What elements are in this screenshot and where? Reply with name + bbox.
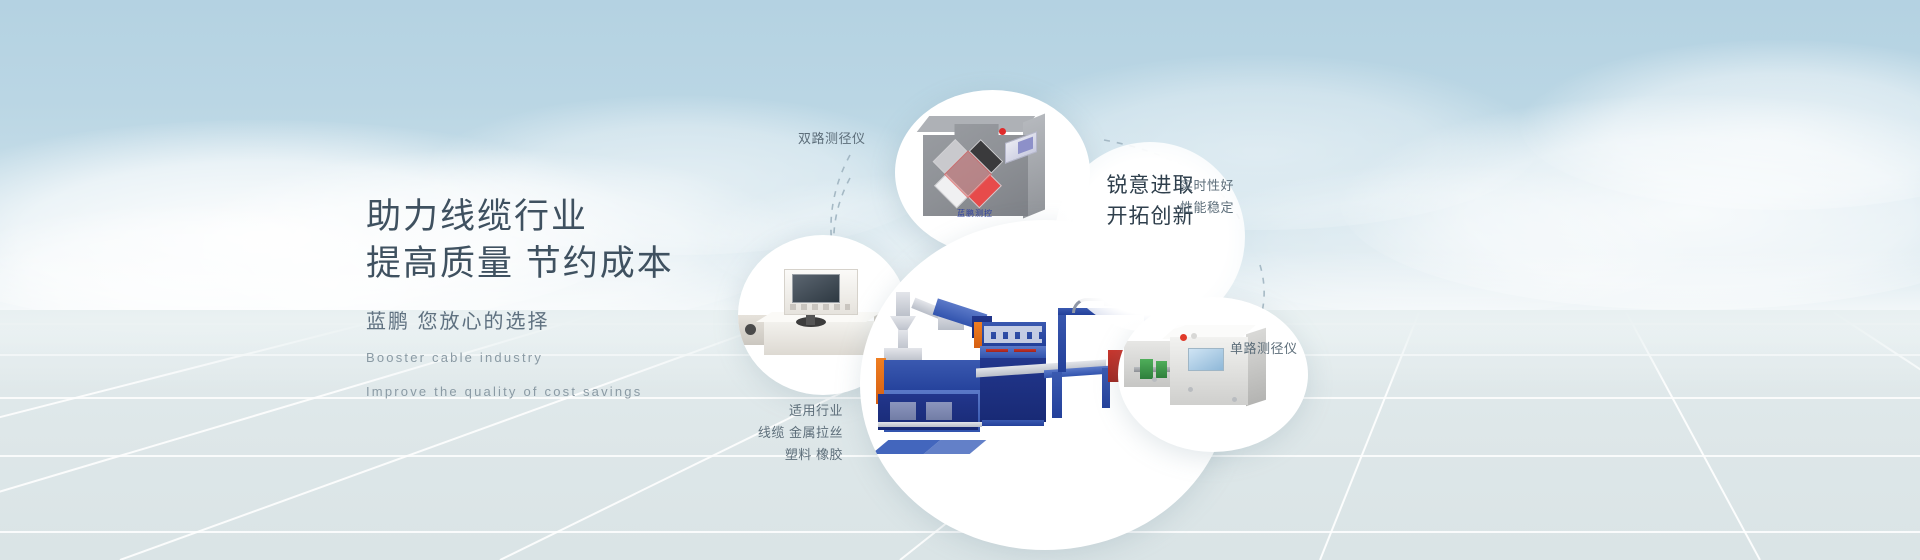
status-led-icon (1191, 333, 1197, 339)
headline-line-1: 助力线缆行业 (366, 193, 674, 240)
device-brand-mark: 蓝鹏测控 (927, 208, 1023, 219)
label-single-gauge: 单路测径仪 (1230, 338, 1298, 359)
power-led-icon (999, 128, 1006, 135)
industry-line-1: 线缆 金属拉丝 (718, 422, 843, 444)
industry-line-2: 塑料 橡胶 (718, 444, 843, 466)
headline-block: 助力线缆行业 提高质量 节约成本 蓝鹏 您放心的选择 Booster cable… (366, 193, 674, 404)
english-tagline-2: Improve the quality of cost savings (366, 379, 674, 404)
console-screen (792, 274, 840, 303)
label-industries: 适用行业 线缆 金属拉丝 塑料 橡胶 (718, 400, 843, 466)
headline-line-2: 提高质量 节约成本 (366, 240, 674, 287)
console-buttons (790, 304, 850, 310)
gauge-display-screen (1188, 348, 1224, 371)
subheadline: 蓝鹏 您放心的选择 (366, 308, 674, 336)
feature-line-2: 性能稳定 (1180, 197, 1234, 219)
english-tagline-1: Booster cable industry (366, 345, 674, 370)
product-bubble-cluster: 蓝鹏测控 双路测径仪 适用行业 线缆 金属拉丝 塑料 橡胶 (700, 60, 1900, 520)
label-dual-gauge: 双路测径仪 (798, 128, 866, 149)
alarm-led-icon (1180, 334, 1187, 341)
feature-line-1: 实时性好 (1180, 175, 1234, 197)
dual-gauge-device-image: 蓝鹏测控 (915, 110, 1070, 238)
industry-title: 适用行业 (718, 400, 843, 422)
label-features: 实时性好 性能稳定 (1180, 175, 1234, 219)
hero-banner: 助力线缆行业 提高质量 节约成本 蓝鹏 您放心的选择 Booster cable… (0, 0, 1920, 560)
